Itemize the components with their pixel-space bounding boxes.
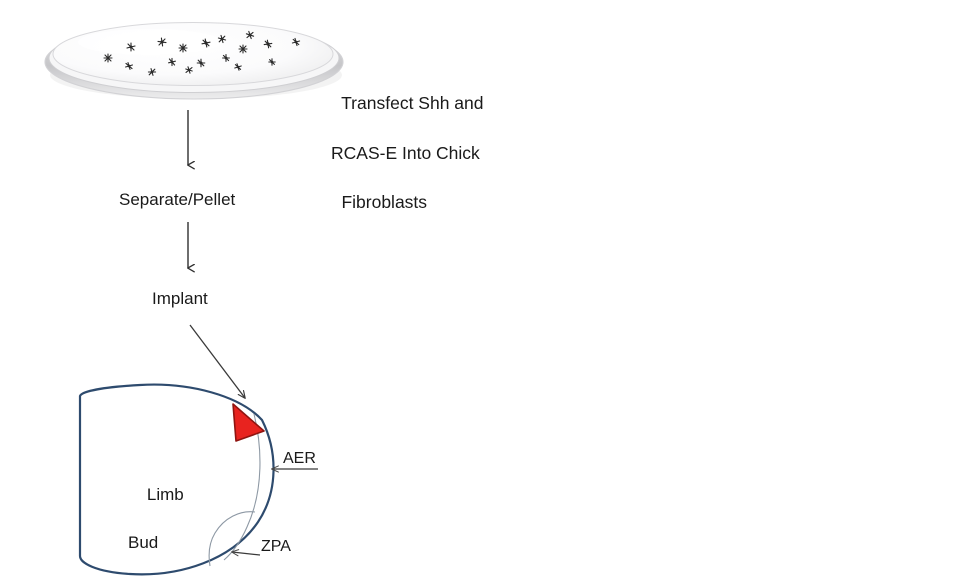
cell xyxy=(179,44,187,52)
dish-highlight xyxy=(78,29,222,55)
aer-label: AER xyxy=(283,448,316,471)
transfect-caption-line3: Fibroblasts xyxy=(341,192,427,212)
cell xyxy=(239,45,247,53)
limb-bud-label-line2: Bud xyxy=(128,531,184,555)
diagram-canvas: Transfect Shh and RCAS-E Into Chick Fibr… xyxy=(0,0,960,588)
petri-dish xyxy=(45,23,343,100)
arrow-zpa xyxy=(232,552,260,555)
implant-label: Implant xyxy=(152,287,208,311)
transfect-caption-line2: RCAS-E Into Chick xyxy=(322,141,484,166)
transfect-caption: Transfect Shh and RCAS-E Into Chick Fibr… xyxy=(322,66,484,240)
separate-pellet-label: Separate/Pellet xyxy=(119,188,235,212)
arrow-implant-to-bud xyxy=(190,325,245,398)
zpa-label: ZPA xyxy=(261,536,291,559)
limb-bud-label-line1: Limb xyxy=(147,485,184,504)
limb-bud-label: Limb Bud xyxy=(128,459,184,588)
transfect-caption-line1: Transfect Shh and xyxy=(341,93,483,113)
cell xyxy=(104,54,112,62)
